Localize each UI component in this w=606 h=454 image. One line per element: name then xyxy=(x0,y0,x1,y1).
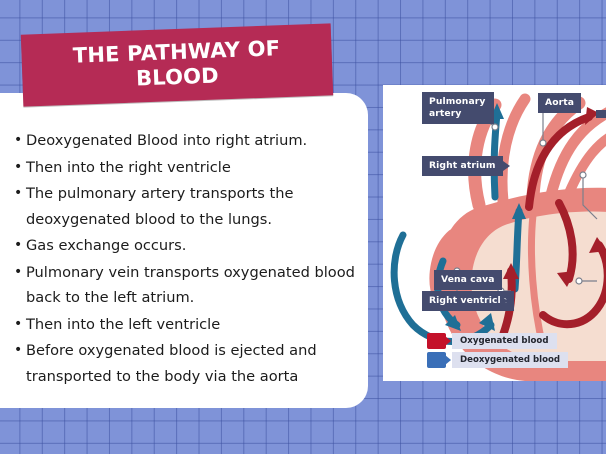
bullet-marker-icon: • xyxy=(14,338,26,364)
bullet-marker-icon: • xyxy=(14,260,26,286)
bullet-marker-icon: • xyxy=(14,233,26,259)
list-item-text: Before oxygenated blood is ejected and t… xyxy=(26,338,364,389)
list-item: • Before oxygenated blood is ejected and… xyxy=(14,338,364,389)
legend-swatch-oxygenated-icon xyxy=(427,333,446,349)
label-vena-cava: Vena cava xyxy=(434,270,502,290)
bullet-marker-icon: • xyxy=(14,181,26,207)
list-item: • Deoxygenated Blood into right atrium. xyxy=(14,128,364,154)
list-item: • Then into the left ventricle xyxy=(14,312,364,338)
label-aorta: Aorta xyxy=(538,93,581,113)
bullet-list: • Deoxygenated Blood into right atrium. … xyxy=(14,128,364,390)
list-item-text: Then into the right ventricle xyxy=(26,155,364,181)
diagram-legend: Oxygenated blood Deoxygenated blood xyxy=(427,333,568,371)
bullet-marker-icon: • xyxy=(14,128,26,154)
list-item-text: Pulmonary vein transports oxygenated blo… xyxy=(26,260,364,311)
legend-label-deoxygenated: Deoxygenated blood xyxy=(452,352,568,368)
list-item: • Gas exchange occurs. xyxy=(14,233,364,259)
label-clipped-right xyxy=(596,110,606,118)
slide-canvas: THE PATHWAY OF BLOOD • Deoxygenated Bloo… xyxy=(0,0,606,454)
list-item: • The pulmonary artery transports the de… xyxy=(14,181,364,232)
list-item-text: Then into the left ventricle xyxy=(26,312,364,338)
list-item-text: Gas exchange occurs. xyxy=(26,233,364,259)
legend-item-deoxygenated: Deoxygenated blood xyxy=(427,352,568,368)
label-right-atrium: Right atrium xyxy=(422,156,503,176)
list-item: • Pulmonary vein transports oxygenated b… xyxy=(14,260,364,311)
label-pointer-right-ventricle xyxy=(501,296,508,306)
bullet-marker-icon: • xyxy=(14,155,26,181)
list-item-text: Deoxygenated Blood into right atrium. xyxy=(26,128,364,154)
legend-item-oxygenated: Oxygenated blood xyxy=(427,333,568,349)
list-item-text: The pulmonary artery transports the deox… xyxy=(26,181,364,232)
page-title: THE PATHWAY OF BLOOD xyxy=(21,34,333,95)
legend-label-oxygenated: Oxygenated blood xyxy=(452,333,557,349)
bullet-marker-icon: • xyxy=(14,312,26,338)
label-pointer-right-atrium xyxy=(503,161,510,171)
title-banner: THE PATHWAY OF BLOOD xyxy=(21,23,333,106)
list-item: • Then into the right ventricle xyxy=(14,155,364,181)
legend-swatch-deoxygenated-icon xyxy=(427,352,446,368)
label-pulmonary-artery: Pulmonary artery xyxy=(422,92,494,124)
